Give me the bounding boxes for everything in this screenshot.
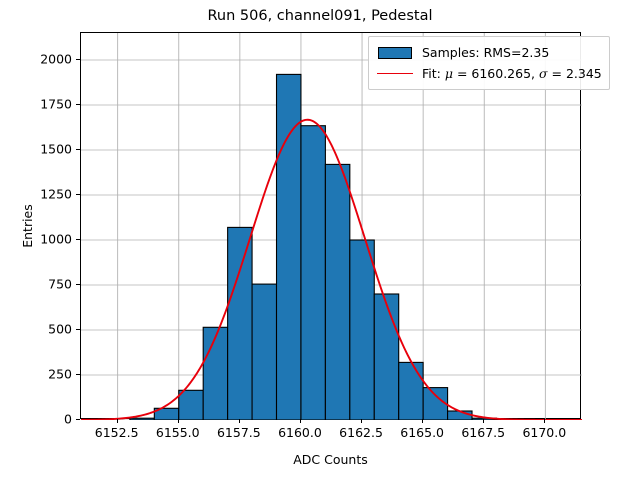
y-tick-mark (76, 149, 80, 150)
histogram-bar (252, 284, 276, 420)
legend-fit-mu-value: = 6160.265, (453, 66, 539, 81)
y-tick-label: 0 (26, 412, 72, 427)
legend-label-samples: Samples: RMS=2.35 (422, 45, 549, 60)
histogram-bar (374, 294, 398, 420)
x-axis-label: ADC Counts (80, 452, 581, 467)
histogram-bar (203, 327, 227, 420)
histogram-bar (301, 126, 325, 420)
y-tick-mark (76, 194, 80, 195)
y-tick-mark (76, 239, 80, 240)
y-tick-label: 250 (26, 367, 72, 382)
y-tick-label: 500 (26, 322, 72, 337)
legend-item-samples: Samples: RMS=2.35 (376, 42, 602, 63)
x-tick-mark (544, 419, 545, 423)
x-tick-mark (300, 419, 301, 423)
legend-item-fit: Fit: μ = 6160.265, σ = 2.345 (376, 63, 602, 84)
y-tick-mark (76, 329, 80, 330)
legend-line-icon (376, 67, 414, 81)
legend-label-fit: Fit: μ = 6160.265, σ = 2.345 (422, 66, 602, 81)
chart-legend: Samples: RMS=2.35 Fit: μ = 6160.265, σ =… (368, 36, 610, 90)
histogram-bar (228, 227, 252, 420)
y-tick-label: 2000 (26, 52, 72, 67)
histogram-bar (399, 362, 423, 420)
x-tick-mark (422, 419, 423, 423)
legend-fit-prefix: Fit: (422, 66, 445, 81)
histogram-bar (325, 164, 349, 420)
y-tick-label: 1000 (26, 232, 72, 247)
x-tick-mark (239, 419, 240, 423)
histogram-bar (277, 74, 301, 420)
histogram-bar (130, 418, 154, 420)
y-tick-label: 1500 (26, 142, 72, 157)
x-tick-mark (178, 419, 179, 423)
y-tick-mark (76, 104, 80, 105)
matplotlib-figure: Run 506, channel091, Pedestal Entries 02… (0, 0, 640, 480)
y-tick-label: 750 (26, 277, 72, 292)
plot-axes (80, 32, 581, 419)
y-tick-mark (76, 59, 80, 60)
legend-fit-sigma-symbol: σ (539, 66, 548, 81)
histogram-bar (423, 388, 447, 420)
plot-canvas (81, 33, 582, 420)
legend-patch-icon (376, 46, 414, 60)
histogram-bar (350, 240, 374, 420)
legend-fit-sigma-value: = 2.345 (548, 66, 602, 81)
y-tick-mark (76, 374, 80, 375)
y-tick-mark (76, 419, 80, 420)
y-tick-label: 1750 (26, 97, 72, 112)
x-tick-mark (117, 419, 118, 423)
x-tick-mark (483, 419, 484, 423)
histogram-bar (179, 390, 203, 420)
y-tick-mark (76, 284, 80, 285)
x-tick-mark (361, 419, 362, 423)
histogram-bars (130, 74, 521, 420)
x-tick-label: 6170.0 (504, 425, 584, 440)
histogram-bar (448, 411, 472, 420)
y-tick-label: 1250 (26, 187, 72, 202)
chart-title: Run 506, channel091, Pedestal (0, 8, 640, 24)
legend-fit-mu-symbol: μ (445, 66, 453, 81)
